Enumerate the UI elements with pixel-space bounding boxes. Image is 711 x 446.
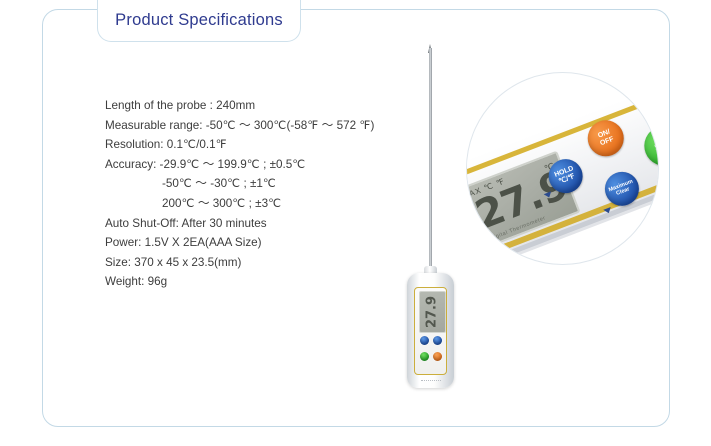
spec-item: Auto Shut-Off: After 30 minutes [105, 214, 425, 234]
spec-item: Weight: 96g [105, 272, 425, 292]
page-title: Product Specifications [115, 11, 283, 30]
battery-cover-seam [421, 380, 441, 383]
device-set-button[interactable] [420, 352, 429, 361]
spec-item: 200℃ ～ 300℃ ; ±3℃ [105, 194, 425, 214]
spec-item: Resolution: 0.1℃/0.1℉ [105, 135, 425, 155]
spec-item: Length of the probe : 240mm [105, 96, 425, 116]
device-hold-button[interactable] [420, 336, 429, 345]
device-front-panel: 27.9 [414, 287, 447, 375]
spec-item: Measurable range: -50℃ ～ 300℃(-58℉ ～ 572… [105, 116, 425, 136]
spec-item: Size: 370 x 45 x 23.5(mm) [105, 253, 425, 273]
spec-item: Power: 1.5V X 2EA(AAA Size) [105, 233, 425, 253]
spec-item: Accuracy: -29.9℃ ～ 199.9℃ ; ±0.5℃ [105, 155, 425, 175]
magnified-detail-circle: KM MAX ℃ ℉ ℃ 27.9 Digital Thermometer ON… [466, 72, 659, 265]
spec-item: -50℃ ～ -30℃ ; ±1℃ [105, 174, 425, 194]
probe-needle [429, 48, 431, 270]
device-lcd-display: 27.9 [419, 291, 446, 333]
device-power-button[interactable] [433, 352, 442, 361]
device-max-clear-button[interactable] [433, 336, 442, 345]
specifications-list: Length of the probe : 240mm Measurable r… [105, 96, 425, 292]
magnified-device-body: KM MAX ℃ ℉ ℃ 27.9 Digital Thermometer ON… [466, 72, 659, 265]
device-lcd-reading: 27.9 [425, 296, 440, 328]
device-handle: 27.9 [407, 273, 454, 388]
page-title-tab: Product Specifications [97, 0, 301, 42]
thermometer-device: 27.9 [396, 44, 466, 389]
product-specifications-page: Product Specifications Length of the pro… [0, 0, 711, 446]
